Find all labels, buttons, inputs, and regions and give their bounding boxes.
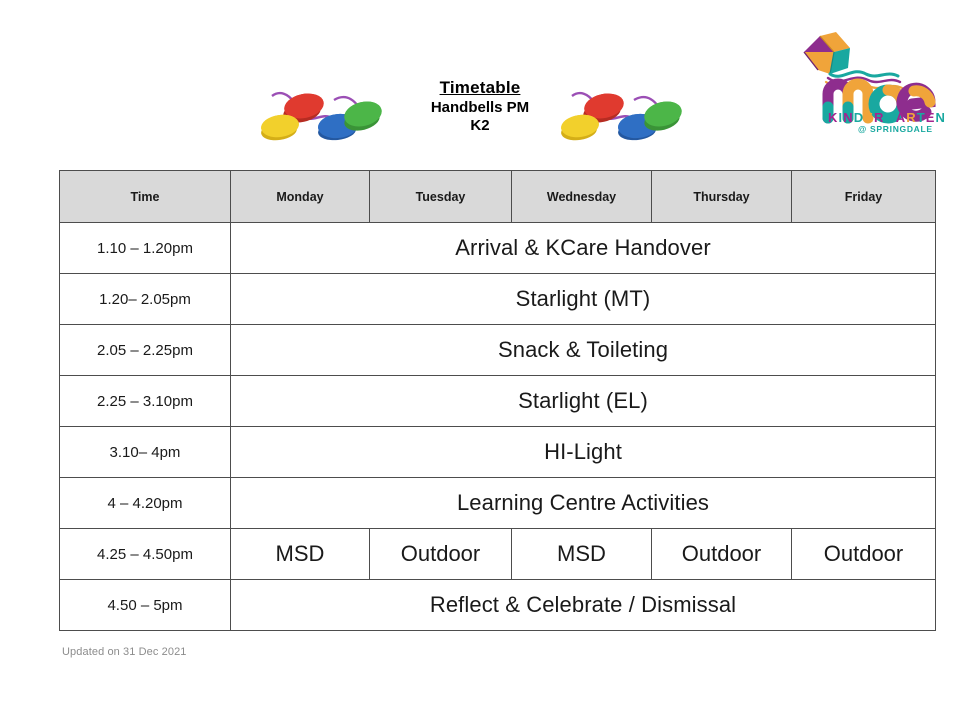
column-header-monday: Monday [231, 171, 370, 223]
column-header-time: Time [60, 171, 231, 223]
time-cell: 4 – 4.20pm [60, 478, 231, 529]
table-row: 2.25 – 3.10pm Starlight (EL) [60, 376, 936, 427]
activity-cell: Arrival & KCare Handover [231, 223, 936, 274]
activity-cell: Starlight (MT) [231, 274, 936, 325]
activity-cell: Reflect & Celebrate / Dismissal [231, 580, 936, 631]
table-row: 4 – 4.20pm Learning Centre Activities [60, 478, 936, 529]
title-subtitle: Handbells PM [380, 99, 580, 117]
column-header-wednesday: Wednesday [512, 171, 652, 223]
activity-cell: HI-Light [231, 427, 936, 478]
activity-cell: Starlight (EL) [231, 376, 936, 427]
castanets-icon [258, 82, 382, 144]
logo-springdale-text: @ SPRINGDALE [858, 124, 933, 134]
timetable-page: KINDERGARTEN @ SPRINGDALE Timetable Hand… [0, 0, 960, 720]
castanets-clipart-left [258, 82, 382, 144]
time-cell: 4.50 – 5pm [60, 580, 231, 631]
time-cell: 2.05 – 2.25pm [60, 325, 231, 376]
time-cell: 1.20– 2.05pm [60, 274, 231, 325]
table-row: 4.25 – 4.50pm MSD Outdoor MSD Outdoor Ou… [60, 529, 936, 580]
page-title: Timetable Handbells PM K2 [380, 78, 580, 135]
logo-kindergarten-text: KINDERGARTEN [828, 110, 946, 125]
logo-artwork: KINDERGARTEN @ SPRINGDALE [786, 22, 954, 134]
time-cell: 2.25 – 3.10pm [60, 376, 231, 427]
activity-cell-tuesday: Outdoor [370, 529, 512, 580]
table-header-row: Time Monday Tuesday Wednesday Thursday F… [60, 171, 936, 223]
title-level: K2 [380, 117, 580, 135]
time-cell: 1.10 – 1.20pm [60, 223, 231, 274]
column-header-thursday: Thursday [652, 171, 792, 223]
column-header-tuesday: Tuesday [370, 171, 512, 223]
time-cell: 4.25 – 4.50pm [60, 529, 231, 580]
activity-cell: Learning Centre Activities [231, 478, 936, 529]
table-row: 2.05 – 2.25pm Snack & Toileting [60, 325, 936, 376]
title-main: Timetable [380, 78, 580, 99]
column-header-friday: Friday [792, 171, 936, 223]
time-cell: 3.10– 4pm [60, 427, 231, 478]
table-row: 1.20– 2.05pm Starlight (MT) [60, 274, 936, 325]
table-row: 3.10– 4pm HI-Light [60, 427, 936, 478]
updated-note: Updated on 31 Dec 2021 [62, 646, 187, 658]
activity-cell-thursday: Outdoor [652, 529, 792, 580]
moe-kindergarten-logo: KINDERGARTEN @ SPRINGDALE [786, 22, 954, 134]
activity-cell-friday: Outdoor [792, 529, 936, 580]
activity-cell: Snack & Toileting [231, 325, 936, 376]
activity-cell-monday: MSD [231, 529, 370, 580]
activity-cell-wednesday: MSD [512, 529, 652, 580]
castanets-icon [558, 82, 682, 144]
table-row: 4.50 – 5pm Reflect & Celebrate / Dismiss… [60, 580, 936, 631]
table-row: 1.10 – 1.20pm Arrival & KCare Handover [60, 223, 936, 274]
castanets-clipart-right [558, 82, 682, 144]
timetable-table: Time Monday Tuesday Wednesday Thursday F… [59, 170, 936, 631]
